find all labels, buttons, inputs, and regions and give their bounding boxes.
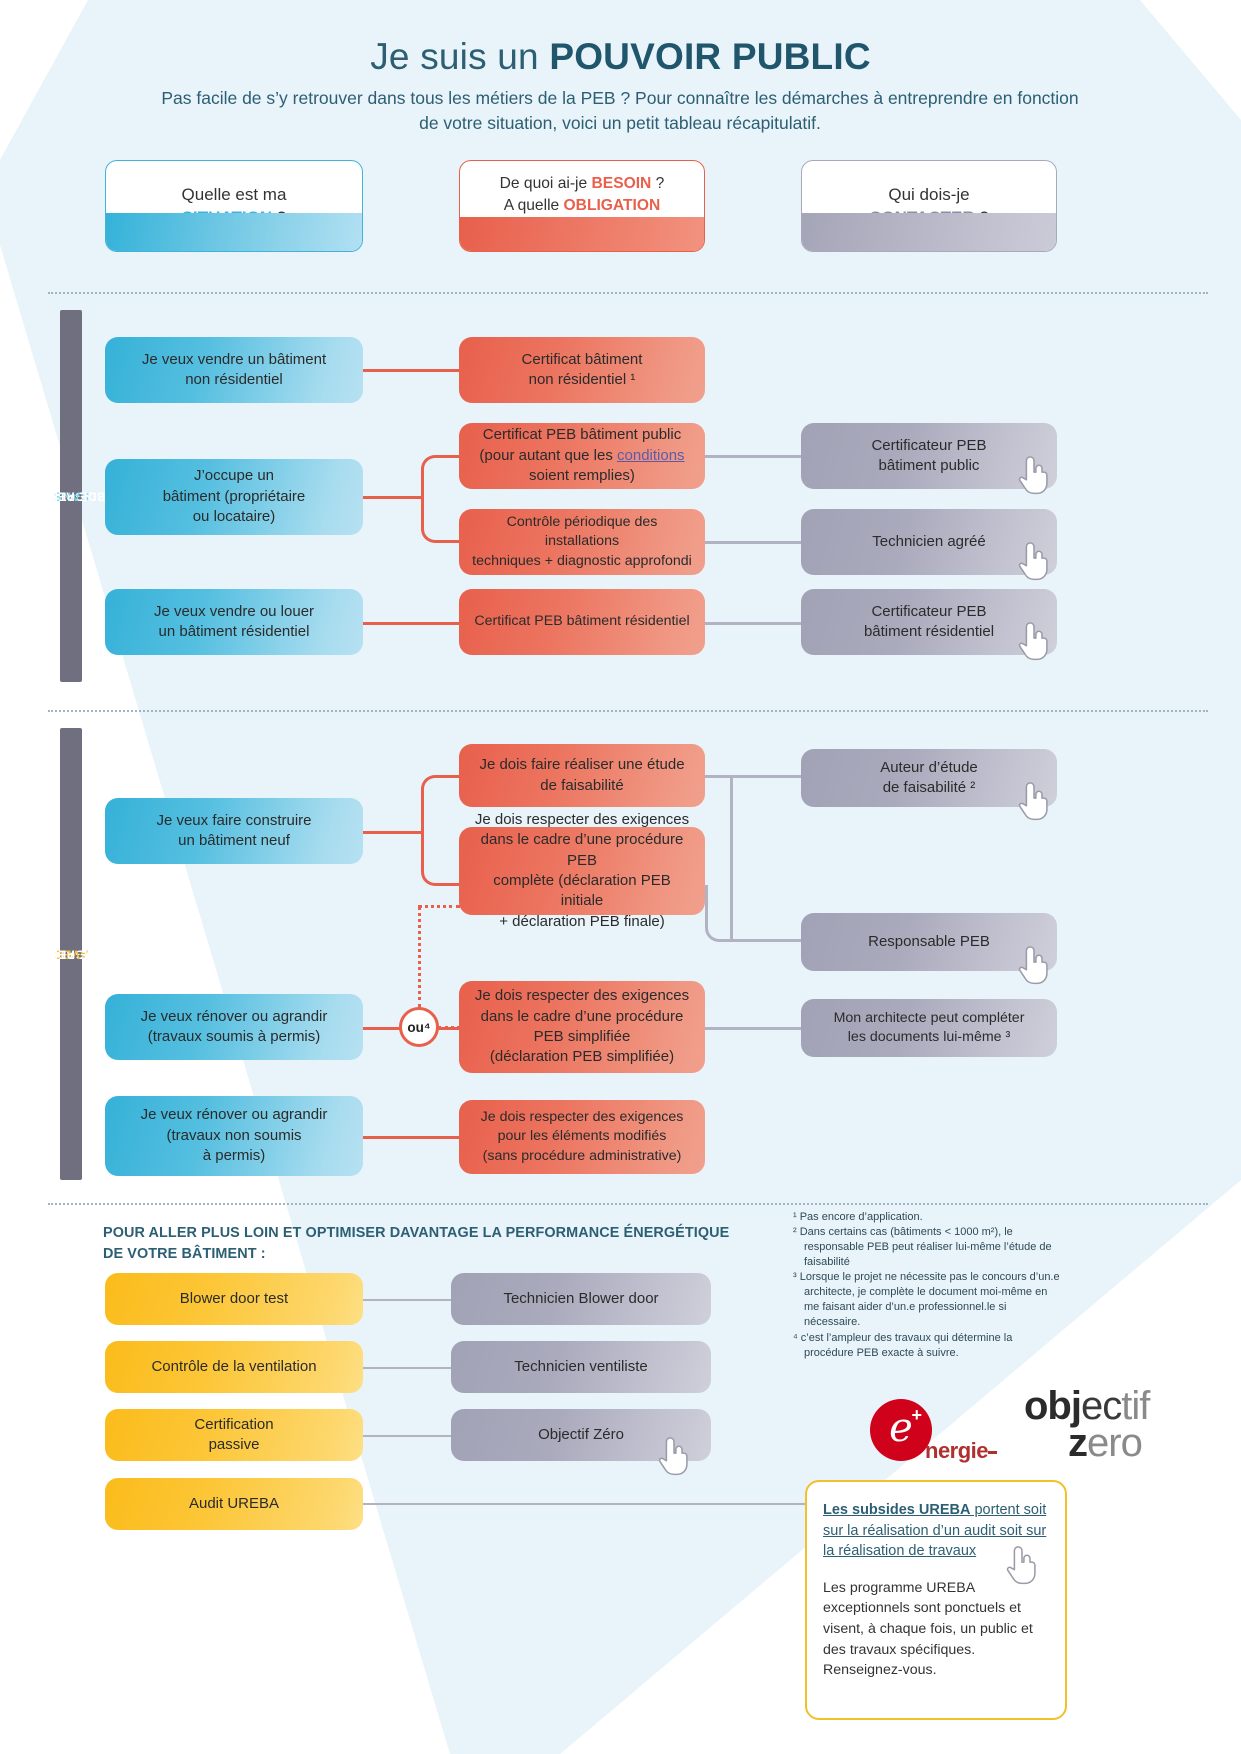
obligation-node-label: Je dois respecter des exigences pour les… (481, 1108, 684, 1166)
col2-l2a: A quelle (504, 197, 564, 214)
energie-logo-e: e (870, 1399, 932, 1461)
col2-l1b: BESOIN (592, 175, 652, 192)
separator-1 (48, 292, 1208, 294)
connector-s1-g3 (705, 622, 801, 625)
col3-strip (802, 213, 1056, 251)
page-subtitle: Pas facile de s’y retrouver dans tous le… (150, 86, 1090, 137)
connector-or-vertical-dotted (418, 906, 421, 1008)
energie-logo-plus: + (911, 1406, 922, 1424)
col2-strip (460, 217, 704, 251)
service-node[interactable]: Contrôle de la ventilation (105, 1341, 363, 1393)
service-node-label: Blower door test (180, 1289, 288, 1309)
contact-node-label: Certificateur PEB bâtiment résidentiel (864, 602, 994, 643)
connector-s1-r3 (363, 622, 459, 625)
obligation-node-label: Contrôle périodique des installations te… (471, 513, 693, 571)
connector-s2-r2 (363, 1027, 401, 1030)
col3-line1: Qui dois-je (888, 185, 969, 204)
obligation-node-label: Certificat PEB bâtiment public (pour aut… (479, 425, 684, 486)
service-node-label: Contrôle de la ventilation (151, 1357, 316, 1377)
service-node[interactable]: Blower door test (105, 1273, 363, 1325)
connector-s2-g-join2 (705, 885, 733, 942)
footnote-1: ¹ Pas encore d’application. (793, 1210, 1063, 1225)
objectif-zero-logo: objectif zero (1024, 1388, 1149, 1462)
obligation-node-label: Je dois respecter des exigences dans le … (475, 986, 689, 1068)
ureba-info-box: Les subsides UREBA portent soit sur la r… (805, 1480, 1067, 1720)
contact-node-label: Technicien agréé (872, 532, 985, 552)
connector-s1-r2-bracket-top (421, 455, 459, 497)
service-contact-label: Technicien ventiliste (514, 1357, 647, 1377)
connector-b1 (363, 1299, 459, 1301)
connector-s1-r1 (363, 369, 459, 372)
hand-cursor-icon (1015, 942, 1053, 986)
obligation-node[interactable]: Certificat bâtiment non résidentiel ¹ (459, 337, 705, 403)
energie-logo-word: nergie (925, 1438, 988, 1464)
column-header-obligation: De quoi ai-je BESOIN ? A quelle OBLIGATI… (459, 160, 705, 252)
title-light: Je suis un (370, 36, 549, 77)
footnote-3: ³ Lorsque le projet ne nécessite pas le … (793, 1270, 1063, 1330)
service-node-label: Certification passive (194, 1415, 273, 1456)
hand-cursor-icon (1015, 618, 1053, 662)
or-badge: ou⁴ (399, 1007, 439, 1047)
bottom-lead-text: POUR ALLER PLUS LOIN ET OPTIMISER DAVANT… (103, 1223, 743, 1265)
service-node-label: Audit UREBA (189, 1494, 279, 1514)
hand-cursor-icon (655, 1433, 693, 1477)
contact-node-label: Mon architecte peut compléter les docume… (834, 1009, 1025, 1048)
contact-node-label: Responsable PEB (868, 932, 990, 952)
connector-or-right-dotted (438, 1026, 460, 1029)
rail-section-1: OBLIGATIONS SANS EXIGENCES DE PERFORMANC… (60, 310, 82, 682)
service-contact-label: Technicien Blower door (503, 1289, 658, 1309)
column-header-situation: Quelle est ma SITUATION ? (105, 160, 363, 252)
service-node[interactable]: Audit UREBA (105, 1478, 363, 1530)
col2-l1a: De quoi ai-je (500, 175, 592, 192)
situation-node-label: Je veux faire construire un bâtiment neu… (156, 811, 311, 852)
obligation-node[interactable]: Certificat PEB bâtiment public (pour aut… (459, 423, 705, 489)
service-node[interactable]: Certification passive (105, 1409, 363, 1461)
obligation-node[interactable]: Contrôle périodique des installations te… (459, 509, 705, 575)
col1-line1: Quelle est ma (182, 185, 287, 204)
page-title: Je suis un POUVOIR PUBLIC (0, 36, 1241, 78)
energie-plus-logo-icon: e + (870, 1399, 932, 1461)
obligation-node-label: Je dois respecter des exigences dans le … (471, 810, 693, 932)
connector-s2-r1-bracket-top (421, 775, 459, 832)
footnote-4: ⁴ c’est l’ampleur des travaux qui déterm… (793, 1331, 1063, 1361)
obligation-node[interactable]: Je dois respecter des exigences dans le … (459, 981, 705, 1073)
connector-s1-r2-stem (363, 496, 421, 499)
column-header-contacter: Qui dois-je CONTACTER ? (801, 160, 1057, 252)
connector-s2-g3 (705, 1027, 801, 1030)
situation-node[interactable]: J’occupe un bâtiment (propriétaire ou lo… (105, 459, 363, 535)
connector-s2-g2 (730, 939, 801, 942)
situation-node[interactable]: Je veux faire construire un bâtiment neu… (105, 798, 363, 864)
obligation-node-label: Certificat PEB bâtiment résidentiel (474, 612, 689, 631)
objectif-row2: zero (1068, 1425, 1149, 1462)
hand-cursor-icon (1015, 778, 1053, 822)
situation-node-label: Je veux vendre un bâtiment non résidenti… (142, 350, 326, 391)
conditions-link[interactable]: conditions (617, 447, 685, 464)
situation-node-label: Je veux rénover ou agrandir (travaux sou… (141, 1007, 328, 1048)
service-contact-node[interactable]: Technicien ventiliste (451, 1341, 711, 1393)
col1-pointer (205, 251, 263, 252)
situation-node-label: Je veux vendre ou louer un bâtiment rési… (154, 602, 314, 643)
obligation-node-label: Certificat bâtiment non résidentiel ¹ (522, 350, 643, 391)
connector-s1-r2-bracket-bottom (421, 496, 459, 543)
objectif-row1: objectif (1024, 1388, 1149, 1425)
connector-or-top-dotted (418, 905, 460, 908)
rail-section-2: OBLIGATIONS AVEC EXIGENCES DE PERFORMANC… (60, 728, 82, 1180)
connector-s1-g1 (705, 455, 801, 458)
or-badge-label: ou⁴ (407, 1020, 430, 1035)
hand-cursor-icon (1003, 1542, 1041, 1586)
situation-node[interactable]: Je veux rénover ou agrandir (travaux non… (105, 1096, 363, 1176)
objectif-z: z (1068, 1421, 1087, 1465)
connector-s1-g2 (705, 541, 801, 544)
col2-l1c: ? (651, 175, 664, 192)
situation-node-label: Je veux rénover ou agrandir (travaux non… (141, 1105, 328, 1166)
footnotes: ¹ Pas encore d’application. ² Dans certa… (793, 1210, 1063, 1361)
objectif-ero: ero (1087, 1421, 1142, 1465)
obligation-node-label: Je dois faire réaliser une étude de fais… (479, 755, 684, 796)
connector-b4 (363, 1503, 805, 1505)
content-layer: Je suis un POUVOIR PUBLIC Pas facile de … (0, 0, 1241, 1754)
footnote-2: ² Dans certains cas (bâtiments < 1000 m²… (793, 1225, 1063, 1270)
obligation-node[interactable]: Je dois faire réaliser une étude de fais… (459, 744, 705, 807)
contact-node[interactable]: Mon architecte peut compléter les docume… (801, 999, 1057, 1057)
title-bold: POUVOIR PUBLIC (549, 36, 870, 77)
ureba-body-text: Les programme UREBA exceptionnels sont p… (823, 1578, 1049, 1681)
service-contact-node[interactable]: Technicien Blower door (451, 1273, 711, 1325)
situation-node-label: J’occupe un bâtiment (propriétaire ou lo… (163, 466, 306, 527)
obligation-node[interactable]: Je dois respecter des exigences dans le … (459, 827, 705, 915)
connector-s2-g-join (730, 775, 774, 942)
contact-node-label: Auteur d’étude de faisabilité ² (880, 758, 978, 799)
situation-node[interactable]: Je veux rénover ou agrandir (travaux sou… (105, 994, 363, 1060)
obligation-node[interactable]: Certificat PEB bâtiment résidentiel (459, 589, 705, 655)
situation-node[interactable]: Je veux vendre un bâtiment non résidenti… (105, 337, 363, 403)
hand-cursor-icon (1015, 452, 1053, 496)
objectif-ob: ob (1024, 1384, 1071, 1428)
obligation-node[interactable]: Je dois respecter des exigences pour les… (459, 1100, 705, 1174)
connector-b3 (363, 1435, 459, 1437)
contact-node-label: Certificateur PEB bâtiment public (871, 436, 986, 477)
ureba-link-bold: Les subsides UREBA (823, 1502, 970, 1518)
situation-node[interactable]: Je veux vendre ou louer un bâtiment rési… (105, 589, 363, 655)
col2-pointer (553, 251, 611, 252)
col3-pointer (900, 251, 958, 252)
separator-2 (48, 710, 1208, 712)
hand-cursor-icon (1015, 538, 1053, 582)
connector-s2-r1-stem (363, 831, 421, 834)
connector-b2 (363, 1367, 459, 1369)
service-contact-label: Objectif Zéro (538, 1425, 624, 1445)
separator-3 (48, 1203, 1208, 1205)
connector-s2-r1-bracket-bottom (421, 831, 459, 886)
col1-strip (106, 213, 362, 251)
connector-s2-r3 (363, 1136, 459, 1139)
col2-l2b: OBLIGATION (564, 197, 661, 214)
